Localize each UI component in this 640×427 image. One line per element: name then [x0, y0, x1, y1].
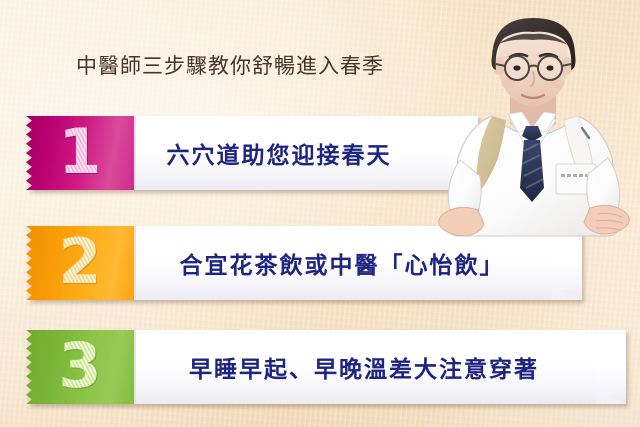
step-banner-3: 早睡早起、早晚溫差大注意穿著	[134, 330, 626, 404]
step-text-2: 合宜花茶飲或中醫「心怡飲」	[136, 246, 582, 280]
step-badge-2: 2	[26, 226, 134, 300]
step-number-2: 2	[58, 231, 101, 293]
step-row-2: 2 合宜花茶飲或中醫「心怡飲」	[26, 226, 582, 300]
step-number-3: 3	[58, 335, 101, 397]
step-text-3: 早睡早起、早晚溫差大注意穿著	[136, 350, 626, 384]
poster-canvas: 中醫師三步驟教你舒暢進入春季 1 六穴道助您迎接春天 2 合宜花茶飲或中醫「心怡…	[0, 0, 640, 427]
step-badge-1: 1	[26, 116, 134, 190]
step-badge-3: 3	[26, 330, 134, 404]
step-row-1: 1 六穴道助您迎接春天	[26, 116, 478, 190]
step-text-1: 六穴道助您迎接春天	[136, 136, 478, 170]
step-row-3: 3 早睡早起、早晚溫差大注意穿著	[26, 330, 626, 404]
step-number-1: 1	[58, 121, 101, 183]
page-title: 中醫師三步驟教你舒暢進入春季	[76, 50, 384, 80]
step-banner-1: 六穴道助您迎接春天	[134, 116, 478, 190]
step-banner-2: 合宜花茶飲或中醫「心怡飲」	[134, 226, 582, 300]
